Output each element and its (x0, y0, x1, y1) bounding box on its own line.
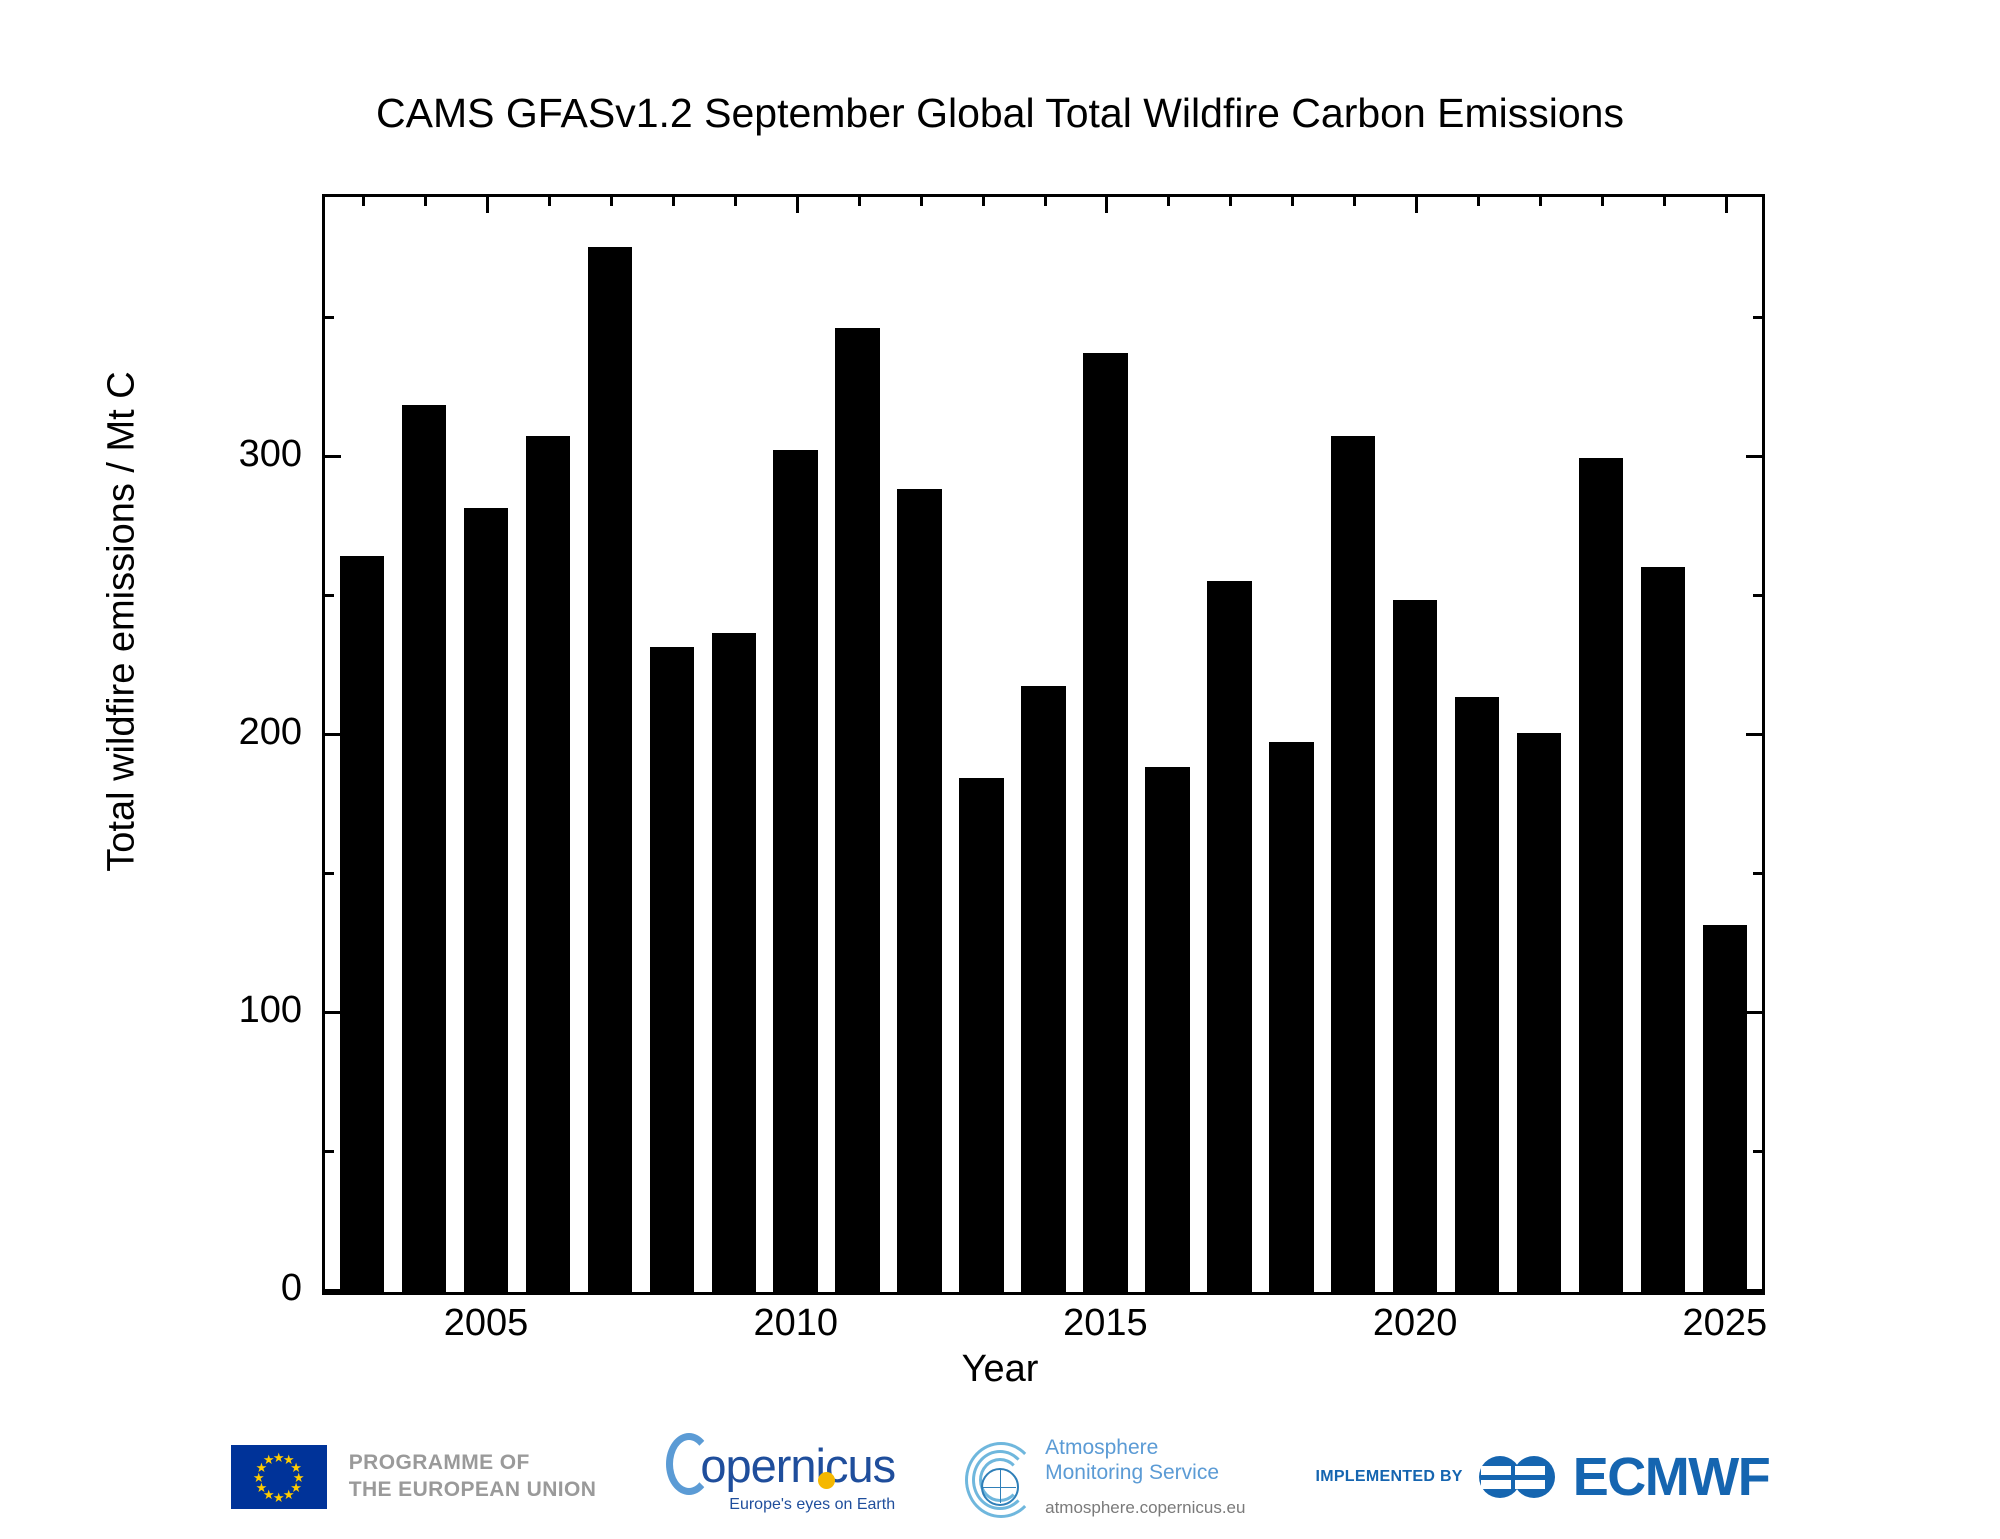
eu-logo-line2: THE EUROPEAN UNION (349, 1477, 597, 1504)
copernicus-dot-icon (818, 1472, 835, 1489)
x-minor-tick-2022 (1539, 197, 1542, 206)
y-tick-0-left (325, 1289, 341, 1292)
y-axis-title: Total wildfire emissions / Mt C (101, 272, 144, 972)
bar-2011 (835, 328, 880, 1292)
ecmwf-bar-icon-1 (1481, 1480, 1511, 1489)
bar-2016 (1145, 767, 1190, 1292)
x-minor-tick-2021 (1477, 197, 1480, 206)
bar-2006 (526, 436, 571, 1292)
x-minor-tick-2017 (1229, 197, 1232, 206)
x-tick-2025-top (1725, 197, 1728, 213)
x-tick-label-2025: 2025 (1645, 1302, 1805, 1345)
plot-area (322, 194, 1765, 1295)
bar-2024 (1641, 567, 1686, 1292)
copernicus-logo: opernicus Europe's eyes on Earth (666, 1441, 895, 1514)
footer-logo-bar: ★★★★★★★★★★★★ PROGRAMME OF THE EUROPEAN U… (0, 1415, 2000, 1539)
bar-2021 (1455, 697, 1500, 1292)
x-tick-label-2015: 2015 (1025, 1302, 1185, 1345)
cams-globe-icon (981, 1468, 1019, 1506)
x-tick-2015-bottom (1105, 1276, 1108, 1292)
copernicus-arc-icon (666, 1433, 712, 1495)
bar-2008 (650, 647, 695, 1292)
plot-inner (325, 197, 1762, 1292)
y-tick-300-right (1746, 455, 1762, 458)
y-minor-tick-350 (1753, 316, 1762, 319)
bar-2019 (1331, 436, 1376, 1292)
x-minor-tick-2023 (1601, 1283, 1604, 1292)
eu-logo-text: PROGRAMME OF THE EUROPEAN UNION (349, 1450, 597, 1504)
y-tick-200-left (325, 733, 341, 736)
x-minor-tick-2018 (1291, 1283, 1294, 1292)
cams-line1: Atmosphere (1045, 1436, 1245, 1461)
y-minor-tick-150 (325, 872, 334, 875)
cams-line2: Monitoring Service (1045, 1461, 1245, 1486)
y-tick-label-0: 0 (162, 1267, 302, 1310)
bar-2022 (1517, 733, 1562, 1292)
ecmwf-mark-icon (1479, 1446, 1557, 1508)
ecmwf-wordmark: ECMWF (1573, 1450, 1769, 1504)
implemented-by-label: IMPLEMENTED BY (1315, 1468, 1462, 1486)
y-tick-200-right (1746, 733, 1762, 736)
x-tick-2005-top (486, 197, 489, 213)
x-minor-tick-2009 (734, 1283, 737, 1292)
x-minor-tick-2023 (1601, 197, 1604, 206)
x-tick-2020-bottom (1415, 1276, 1418, 1292)
x-minor-tick-2024 (1663, 1283, 1666, 1292)
x-tick-2025-bottom (1725, 1276, 1728, 1292)
x-minor-tick-2017 (1229, 1283, 1232, 1292)
bar-2018 (1269, 742, 1314, 1292)
x-minor-tick-2012 (920, 1283, 923, 1292)
bar-2004 (402, 405, 447, 1292)
x-tick-2015-top (1105, 197, 1108, 213)
copernicus-tagline: Europe's eyes on Earth (729, 1496, 895, 1514)
x-tick-2005-bottom (486, 1276, 489, 1292)
chart-title: CAMS GFASv1.2 September Global Total Wil… (0, 90, 2000, 137)
ecmwf-logo: IMPLEMENTED BY ECMWF (1315, 1446, 1769, 1508)
x-minor-tick-2003 (362, 197, 365, 206)
x-tick-2010-top (796, 197, 799, 213)
y-tick-0-right (1746, 1289, 1762, 1292)
bar-2013 (959, 778, 1004, 1292)
x-tick-label-2010: 2010 (716, 1302, 876, 1345)
y-minor-tick-350 (325, 316, 334, 319)
bar-2005 (464, 508, 509, 1292)
copernicus-wordmark-row: opernicus (666, 1441, 895, 1495)
x-minor-tick-2004 (424, 1283, 427, 1292)
bar-2003 (340, 556, 385, 1292)
y-minor-tick-250 (1753, 594, 1762, 597)
bar-2009 (712, 633, 757, 1292)
bar-2020 (1393, 600, 1438, 1292)
bar-2007 (588, 247, 633, 1292)
x-minor-tick-2011 (858, 1283, 861, 1292)
ecmwf-bar-icon-2 (1515, 1466, 1545, 1475)
european-union-flag-icon: ★★★★★★★★★★★★ (231, 1445, 327, 1509)
x-minor-tick-2007 (610, 197, 613, 206)
x-minor-tick-2008 (672, 1283, 675, 1292)
x-minor-tick-2016 (1167, 197, 1170, 206)
bar-2014 (1021, 686, 1066, 1292)
figure-canvas: CAMS GFASv1.2 September Global Total Wil… (0, 0, 2000, 1539)
x-minor-tick-2024 (1663, 197, 1666, 206)
y-tick-label-200: 200 (162, 711, 302, 754)
y-tick-100-right (1746, 1011, 1762, 1014)
bar-2012 (897, 489, 942, 1292)
x-minor-tick-2016 (1167, 1283, 1170, 1292)
bar-2023 (1579, 458, 1624, 1292)
x-tick-2010-bottom (796, 1276, 799, 1292)
x-minor-tick-2008 (672, 197, 675, 206)
x-minor-tick-2019 (1353, 1283, 1356, 1292)
cams-logo: Atmosphere Monitoring Service atmosphere… (965, 1436, 1245, 1518)
x-minor-tick-2006 (548, 197, 551, 206)
x-tick-2020-top (1415, 197, 1418, 213)
eu-logo-line1: PROGRAMME OF (349, 1450, 597, 1477)
ecmwf-bar-icon-0 (1481, 1466, 1511, 1475)
x-minor-tick-2012 (920, 197, 923, 206)
x-minor-tick-2006 (548, 1283, 551, 1292)
bar-2017 (1207, 581, 1252, 1292)
y-minor-tick-250 (325, 594, 334, 597)
bar-2010 (773, 450, 818, 1292)
x-minor-tick-2003 (362, 1283, 365, 1292)
y-tick-300-left (325, 455, 341, 458)
x-minor-tick-2004 (424, 197, 427, 206)
x-minor-tick-2011 (858, 197, 861, 206)
y-tick-label-300: 300 (162, 433, 302, 476)
y-minor-tick-50 (325, 1150, 334, 1153)
x-minor-tick-2013 (982, 1283, 985, 1292)
cams-url: atmosphere.copernicus.eu (1045, 1498, 1245, 1518)
x-minor-tick-2018 (1291, 197, 1294, 206)
x-axis-title: Year (0, 1348, 2000, 1391)
copernicus-wordmark: opernicus (700, 1441, 895, 1491)
y-tick-100-left (325, 1011, 341, 1014)
ecmwf-bar-icon-3 (1515, 1480, 1545, 1489)
cams-atmosphere-icon (965, 1442, 1031, 1512)
bar-2025 (1703, 925, 1748, 1292)
x-minor-tick-2009 (734, 197, 737, 206)
x-minor-tick-2014 (1044, 197, 1047, 206)
y-minor-tick-150 (1753, 872, 1762, 875)
ecmwf-lobe-icon-1 (1513, 1456, 1555, 1498)
bar-2015 (1083, 353, 1128, 1292)
x-tick-label-2005: 2005 (406, 1302, 566, 1345)
eu-star-icon: ★ (262, 1453, 275, 1466)
x-minor-tick-2021 (1477, 1283, 1480, 1292)
x-minor-tick-2022 (1539, 1283, 1542, 1292)
eu-logo: ★★★★★★★★★★★★ PROGRAMME OF THE EUROPEAN U… (231, 1445, 597, 1509)
x-minor-tick-2014 (1044, 1283, 1047, 1292)
x-tick-label-2020: 2020 (1335, 1302, 1495, 1345)
cams-logo-text: Atmosphere Monitoring Service atmosphere… (1045, 1436, 1245, 1518)
y-tick-label-100: 100 (162, 989, 302, 1032)
x-minor-tick-2007 (610, 1283, 613, 1292)
y-minor-tick-50 (1753, 1150, 1762, 1153)
x-minor-tick-2013 (982, 197, 985, 206)
x-minor-tick-2019 (1353, 197, 1356, 206)
